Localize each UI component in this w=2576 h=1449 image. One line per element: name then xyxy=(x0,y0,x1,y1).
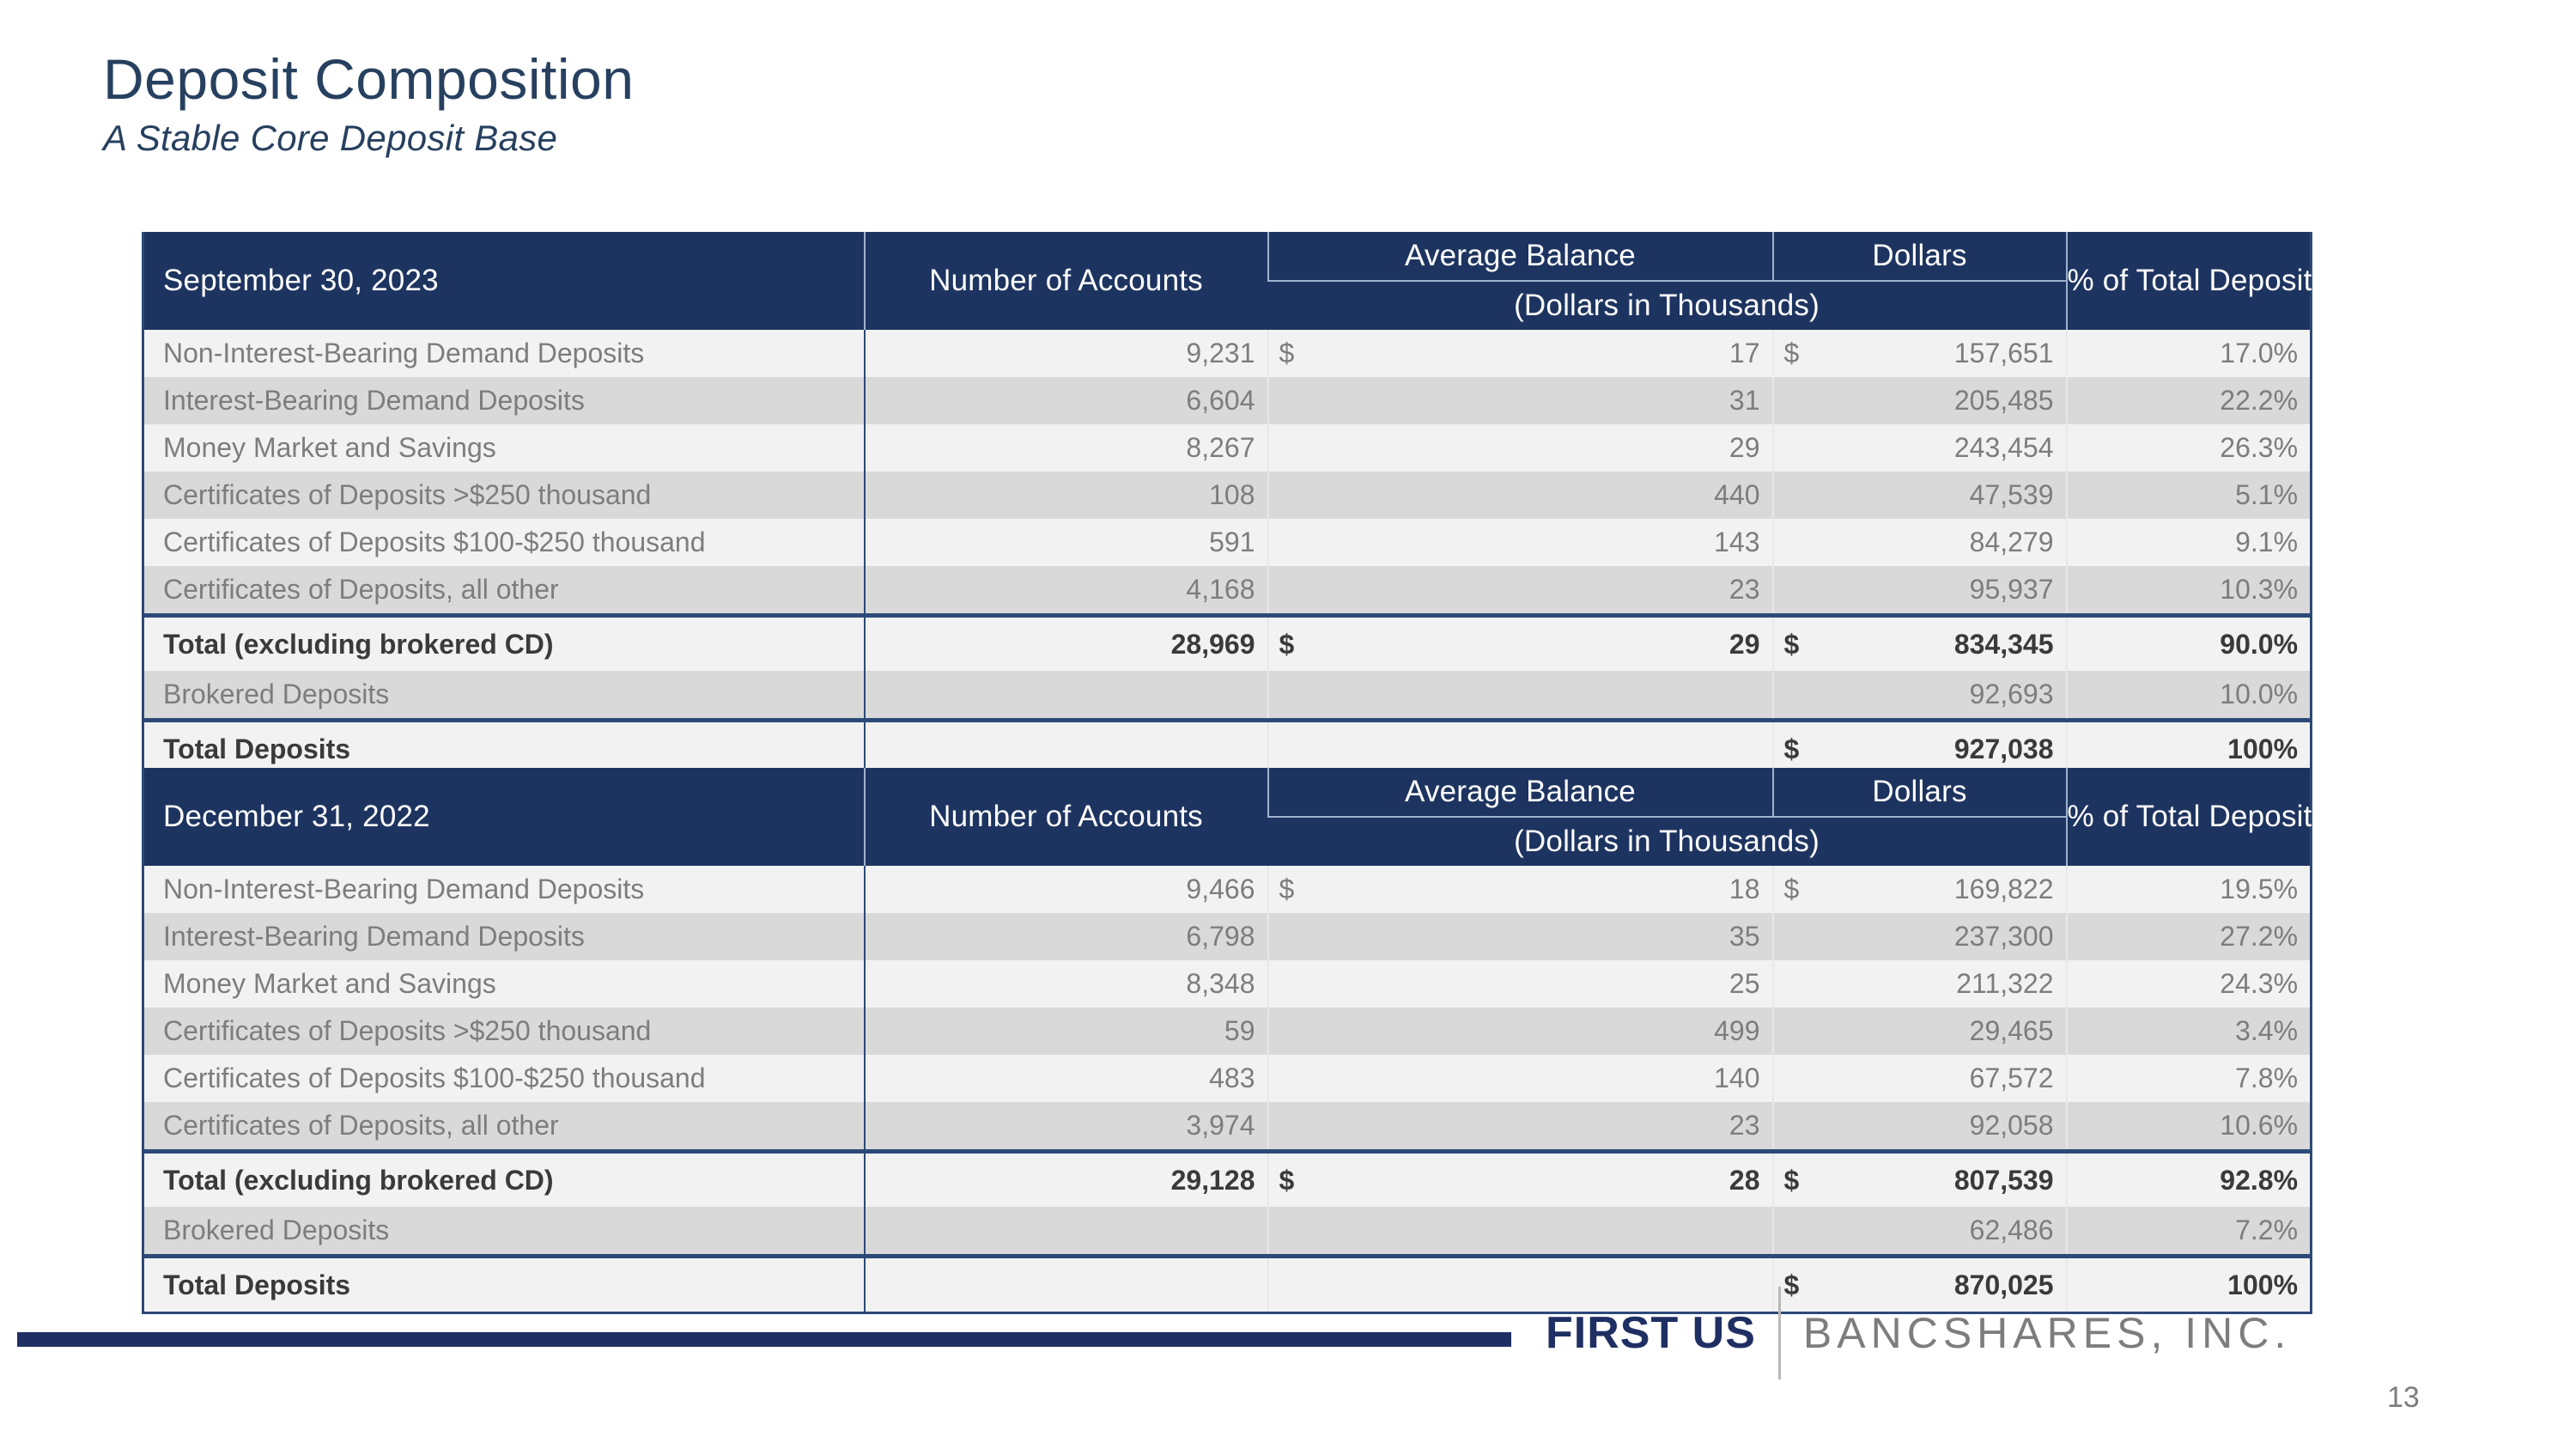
cell-dollars: 205,485 xyxy=(1842,377,2067,424)
cell-dollars: 95,937 xyxy=(1842,566,2067,616)
cell-avg-currency-symbol xyxy=(1268,1102,1328,1152)
cell-dollars: 29,465 xyxy=(1842,1008,2067,1055)
row-label: Certificates of Deposits, all other xyxy=(143,566,865,616)
cell-dollars: 211,322 xyxy=(1842,960,2067,1008)
row-label: Money Market and Savings xyxy=(143,424,865,472)
cell-accounts: 9,466 xyxy=(865,866,1268,913)
column-header-dollars-in-thousands: (Dollars in Thousands) xyxy=(1268,281,2067,330)
cell-pct-of-total: 26.3% xyxy=(2067,424,2312,472)
cell-average-balance: 23 xyxy=(1328,1102,1773,1152)
cell-accounts xyxy=(865,671,1268,721)
cell-dollars-currency-symbol xyxy=(1773,1008,1842,1055)
cell-dollars: 157,651 xyxy=(1842,330,2067,377)
table-row: Certificates of Deposits, all other 4,16… xyxy=(143,566,2312,616)
cell-pct-of-total: 7.8% xyxy=(2067,1055,2312,1102)
cell-pct-of-total: 3.4% xyxy=(2067,1008,2312,1055)
cell-avg-currency-symbol: $ xyxy=(1268,1152,1328,1208)
cell-dollars-currency-symbol xyxy=(1773,377,1842,424)
cell-dollars-currency-symbol xyxy=(1773,1207,1842,1257)
cell-dollars: 84,279 xyxy=(1842,519,2067,566)
row-label: Certificates of Deposits, all other xyxy=(143,1102,865,1152)
cell-dollars: 834,345 xyxy=(1842,616,2067,672)
logo-first-us-text: FIRST US xyxy=(1546,1307,1756,1359)
cell-dollars-currency-symbol xyxy=(1773,519,1842,566)
row-label: Total Deposits xyxy=(143,1257,865,1313)
cell-pct-of-total: 27.2% xyxy=(2067,913,2312,960)
page-subtitle: A Stable Core Deposit Base xyxy=(103,118,634,159)
column-header-average-balance: Average Balance xyxy=(1268,232,1773,281)
row-label: Brokered Deposits xyxy=(143,671,865,721)
cell-dollars-currency-symbol xyxy=(1773,960,1842,1008)
row-label: Certificates of Deposits $100-$250 thous… xyxy=(143,519,865,566)
row-label: Non-Interest-Bearing Demand Deposits xyxy=(143,866,865,913)
cell-pct-of-total: 22.2% xyxy=(2067,377,2312,424)
table-row: Non-Interest-Bearing Demand Deposits 9,2… xyxy=(143,330,2312,377)
cell-dollars-currency-symbol xyxy=(1773,566,1842,616)
table-row: Money Market and Savings 8,267 29 243,45… xyxy=(143,424,2312,472)
cell-dollars: 47,539 xyxy=(1842,472,2067,519)
row-label: Non-Interest-Bearing Demand Deposits xyxy=(143,330,865,377)
row-label: Total (excluding brokered CD) xyxy=(143,1152,865,1208)
cell-accounts: 8,267 xyxy=(865,424,1268,472)
cell-pct-of-total: 10.3% xyxy=(2067,566,2312,616)
table-body: Non-Interest-Bearing Demand Deposits 9,2… xyxy=(143,330,2312,777)
cell-avg-currency-symbol xyxy=(1268,1055,1328,1102)
cell-pct-of-total: 19.5% xyxy=(2067,866,2312,913)
table-header: September 30, 2023 Number of Accounts Av… xyxy=(143,232,2312,330)
cell-avg-currency-symbol xyxy=(1268,424,1328,472)
column-header-average-balance: Average Balance xyxy=(1268,768,1773,817)
cell-accounts: 6,604 xyxy=(865,377,1268,424)
table-row: Certificates of Deposits, all other 3,97… xyxy=(143,1102,2312,1152)
cell-dollars-currency-symbol xyxy=(1773,671,1842,721)
cell-accounts: 9,231 xyxy=(865,330,1268,377)
cell-avg-currency-symbol xyxy=(1268,671,1328,721)
deposit-composition-table-2023: September 30, 2023 Number of Accounts Av… xyxy=(142,232,2312,778)
column-header-accounts: Number of Accounts xyxy=(865,232,1268,330)
cell-avg-currency-symbol xyxy=(1268,1008,1328,1055)
cell-dollars-currency-symbol xyxy=(1773,1102,1842,1152)
cell-accounts: 29,128 xyxy=(865,1152,1268,1208)
cell-pct-of-total: 9.1% xyxy=(2067,519,2312,566)
cell-avg-currency-symbol: $ xyxy=(1268,866,1328,913)
cell-pct-of-total: 10.6% xyxy=(2067,1102,2312,1152)
cell-pct-of-total: 5.1% xyxy=(2067,472,2312,519)
page-number: 13 xyxy=(2387,1381,2420,1415)
cell-dollars-currency-symbol: $ xyxy=(1773,866,1842,913)
cell-dollars-currency-symbol xyxy=(1773,913,1842,960)
cell-dollars: 92,058 xyxy=(1842,1102,2067,1152)
table-row-total-excluding-brokered: Total (excluding brokered CD) 29,128 $ 2… xyxy=(143,1152,2312,1208)
cell-dollars: 92,693 xyxy=(1842,671,2067,721)
table-period-label: September 30, 2023 xyxy=(143,232,865,330)
cell-avg-currency-symbol xyxy=(1268,519,1328,566)
page-title: Deposit Composition xyxy=(103,50,634,109)
cell-avg-currency-symbol xyxy=(1268,566,1328,616)
cell-accounts: 591 xyxy=(865,519,1268,566)
cell-average-balance xyxy=(1328,671,1773,721)
cell-avg-currency-symbol xyxy=(1268,1257,1328,1313)
cell-average-balance: 28 xyxy=(1328,1152,1773,1208)
cell-accounts xyxy=(865,1207,1268,1257)
cell-dollars: 237,300 xyxy=(1842,913,2067,960)
slide-title-block: Deposit Composition A Stable Core Deposi… xyxy=(103,50,634,159)
cell-pct-of-total: 10.0% xyxy=(2067,671,2312,721)
cell-dollars-currency-symbol xyxy=(1773,424,1842,472)
cell-dollars-currency-symbol: $ xyxy=(1773,616,1842,672)
cell-accounts: 4,168 xyxy=(865,566,1268,616)
cell-average-balance: 29 xyxy=(1328,424,1773,472)
cell-average-balance: 18 xyxy=(1328,866,1773,913)
column-header-accounts: Number of Accounts xyxy=(865,768,1268,866)
cell-avg-currency-symbol: $ xyxy=(1268,330,1328,377)
column-header-pct-of-total: % of Total Deposits xyxy=(2067,232,2312,330)
table-row: Certificates of Deposits $100-$250 thous… xyxy=(143,1055,2312,1102)
cell-avg-currency-symbol xyxy=(1268,1207,1328,1257)
cell-avg-currency-symbol: $ xyxy=(1268,616,1328,672)
table-row-brokered-deposits: Brokered Deposits 62,486 7.2% xyxy=(143,1207,2312,1257)
cell-accounts: 59 xyxy=(865,1008,1268,1055)
table-row: Money Market and Savings 8,348 25 211,32… xyxy=(143,960,2312,1008)
column-header-pct-of-total: % of Total Deposits xyxy=(2067,768,2312,866)
cell-average-balance: 29 xyxy=(1328,616,1773,672)
deposit-composition-table-2022: December 31, 2022 Number of Accounts Ave… xyxy=(142,768,2312,1314)
table-row: Interest-Bearing Demand Deposits 6,604 3… xyxy=(143,377,2312,424)
row-label: Interest-Bearing Demand Deposits xyxy=(143,377,865,424)
table-row: Certificates of Deposits >$250 thousand … xyxy=(143,1008,2312,1055)
cell-accounts: 6,798 xyxy=(865,913,1268,960)
cell-average-balance: 499 xyxy=(1328,1008,1773,1055)
cell-pct-of-total: 17.0% xyxy=(2067,330,2312,377)
cell-accounts: 8,348 xyxy=(865,960,1268,1008)
cell-average-balance: 25 xyxy=(1328,960,1773,1008)
cell-average-balance: 23 xyxy=(1328,566,1773,616)
row-label: Certificates of Deposits >$250 thousand xyxy=(143,1008,865,1055)
cell-pct-of-total: 90.0% xyxy=(2067,616,2312,672)
cell-average-balance xyxy=(1328,1207,1773,1257)
cell-avg-currency-symbol xyxy=(1268,960,1328,1008)
cell-dollars-currency-symbol: $ xyxy=(1773,1152,1842,1208)
company-logo: FIRST US BANCSHARES, INC. xyxy=(1546,1299,2291,1367)
cell-dollars: 807,539 xyxy=(1842,1152,2067,1208)
row-label: Total (excluding brokered CD) xyxy=(143,616,865,672)
cell-average-balance: 440 xyxy=(1328,472,1773,519)
table-row-brokered-deposits: Brokered Deposits 92,693 10.0% xyxy=(143,671,2312,721)
table-row: Interest-Bearing Demand Deposits 6,798 3… xyxy=(143,913,2312,960)
table-row: Certificates of Deposits >$250 thousand … xyxy=(143,472,2312,519)
cell-dollars: 243,454 xyxy=(1842,424,2067,472)
row-label: Interest-Bearing Demand Deposits xyxy=(143,913,865,960)
cell-average-balance: 31 xyxy=(1328,377,1773,424)
cell-avg-currency-symbol xyxy=(1268,377,1328,424)
column-header-dollars: Dollars xyxy=(1773,768,2067,817)
footer-divider-rule xyxy=(17,1332,1511,1347)
cell-average-balance: 140 xyxy=(1328,1055,1773,1102)
table-row: Certificates of Deposits $100-$250 thous… xyxy=(143,519,2312,566)
cell-average-balance: 17 xyxy=(1328,330,1773,377)
cell-pct-of-total: 24.3% xyxy=(2067,960,2312,1008)
row-label: Brokered Deposits xyxy=(143,1207,865,1257)
cell-accounts: 483 xyxy=(865,1055,1268,1102)
cell-avg-currency-symbol xyxy=(1268,913,1328,960)
column-header-dollars: Dollars xyxy=(1773,232,2067,281)
cell-avg-currency-symbol xyxy=(1268,472,1328,519)
cell-accounts xyxy=(865,1257,1268,1313)
column-header-dollars-in-thousands: (Dollars in Thousands) xyxy=(1268,817,2067,866)
row-label: Money Market and Savings xyxy=(143,960,865,1008)
cell-accounts: 28,969 xyxy=(865,616,1268,672)
cell-pct-of-total: 7.2% xyxy=(2067,1207,2312,1257)
table-period-label: December 31, 2022 xyxy=(143,768,865,866)
table-header: December 31, 2022 Number of Accounts Ave… xyxy=(143,768,2312,866)
cell-accounts: 108 xyxy=(865,472,1268,519)
table-body: Non-Interest-Bearing Demand Deposits 9,4… xyxy=(143,866,2312,1313)
cell-dollars-currency-symbol: $ xyxy=(1773,330,1842,377)
cell-average-balance: 35 xyxy=(1328,913,1773,960)
row-label: Certificates of Deposits >$250 thousand xyxy=(143,472,865,519)
cell-dollars-currency-symbol xyxy=(1773,1055,1842,1102)
cell-dollars: 62,486 xyxy=(1842,1207,2067,1257)
cell-dollars: 67,572 xyxy=(1842,1055,2067,1102)
table-row: Non-Interest-Bearing Demand Deposits 9,4… xyxy=(143,866,2312,913)
row-label: Certificates of Deposits $100-$250 thous… xyxy=(143,1055,865,1102)
cell-average-balance: 143 xyxy=(1328,519,1773,566)
cell-pct-of-total: 92.8% xyxy=(2067,1152,2312,1208)
table-row-total-excluding-brokered: Total (excluding brokered CD) 28,969 $ 2… xyxy=(143,616,2312,672)
logo-bancshares-text: BANCSHARES, INC. xyxy=(1803,1308,2291,1358)
logo-divider-icon xyxy=(1778,1287,1781,1379)
cell-dollars-currency-symbol xyxy=(1773,472,1842,519)
cell-dollars: 169,822 xyxy=(1842,866,2067,913)
cell-accounts: 3,974 xyxy=(865,1102,1268,1152)
